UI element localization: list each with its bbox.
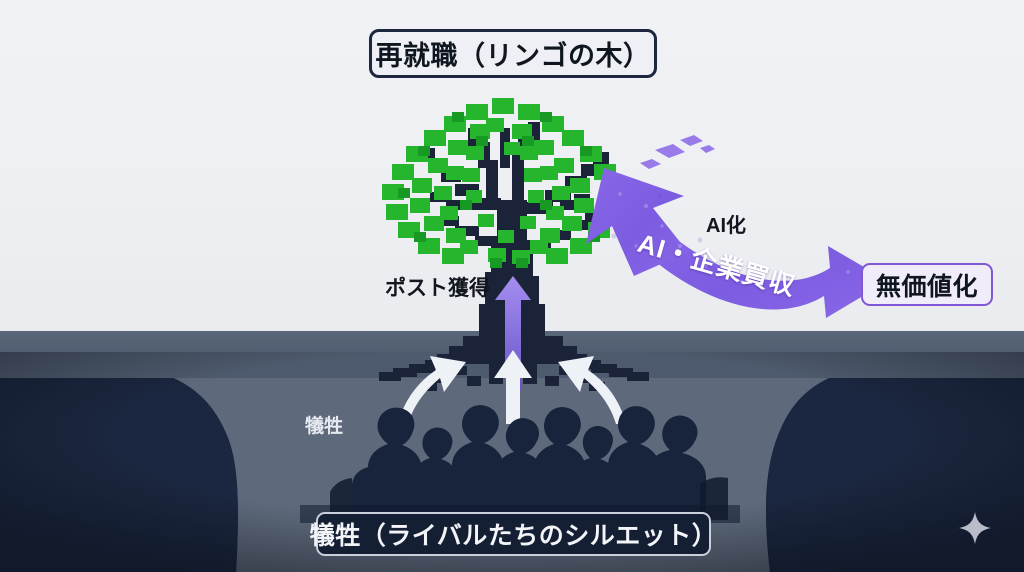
right-callout-label: 無価値化	[861, 263, 993, 306]
bottom-callout-label: 犠牲（ライバルたちのシルエット）	[316, 512, 711, 556]
ai-transformation-annotation: AI化	[706, 209, 746, 238]
page-title: 再就職（リンゴの木）	[369, 29, 657, 78]
sparkle-icon	[957, 510, 993, 546]
sacrifice-annotation: 犠牲	[305, 411, 343, 438]
illustration-canvas: AI・企業買収	[0, 0, 1024, 572]
post-acquisition-annotation: ポスト獲得	[385, 272, 490, 302]
